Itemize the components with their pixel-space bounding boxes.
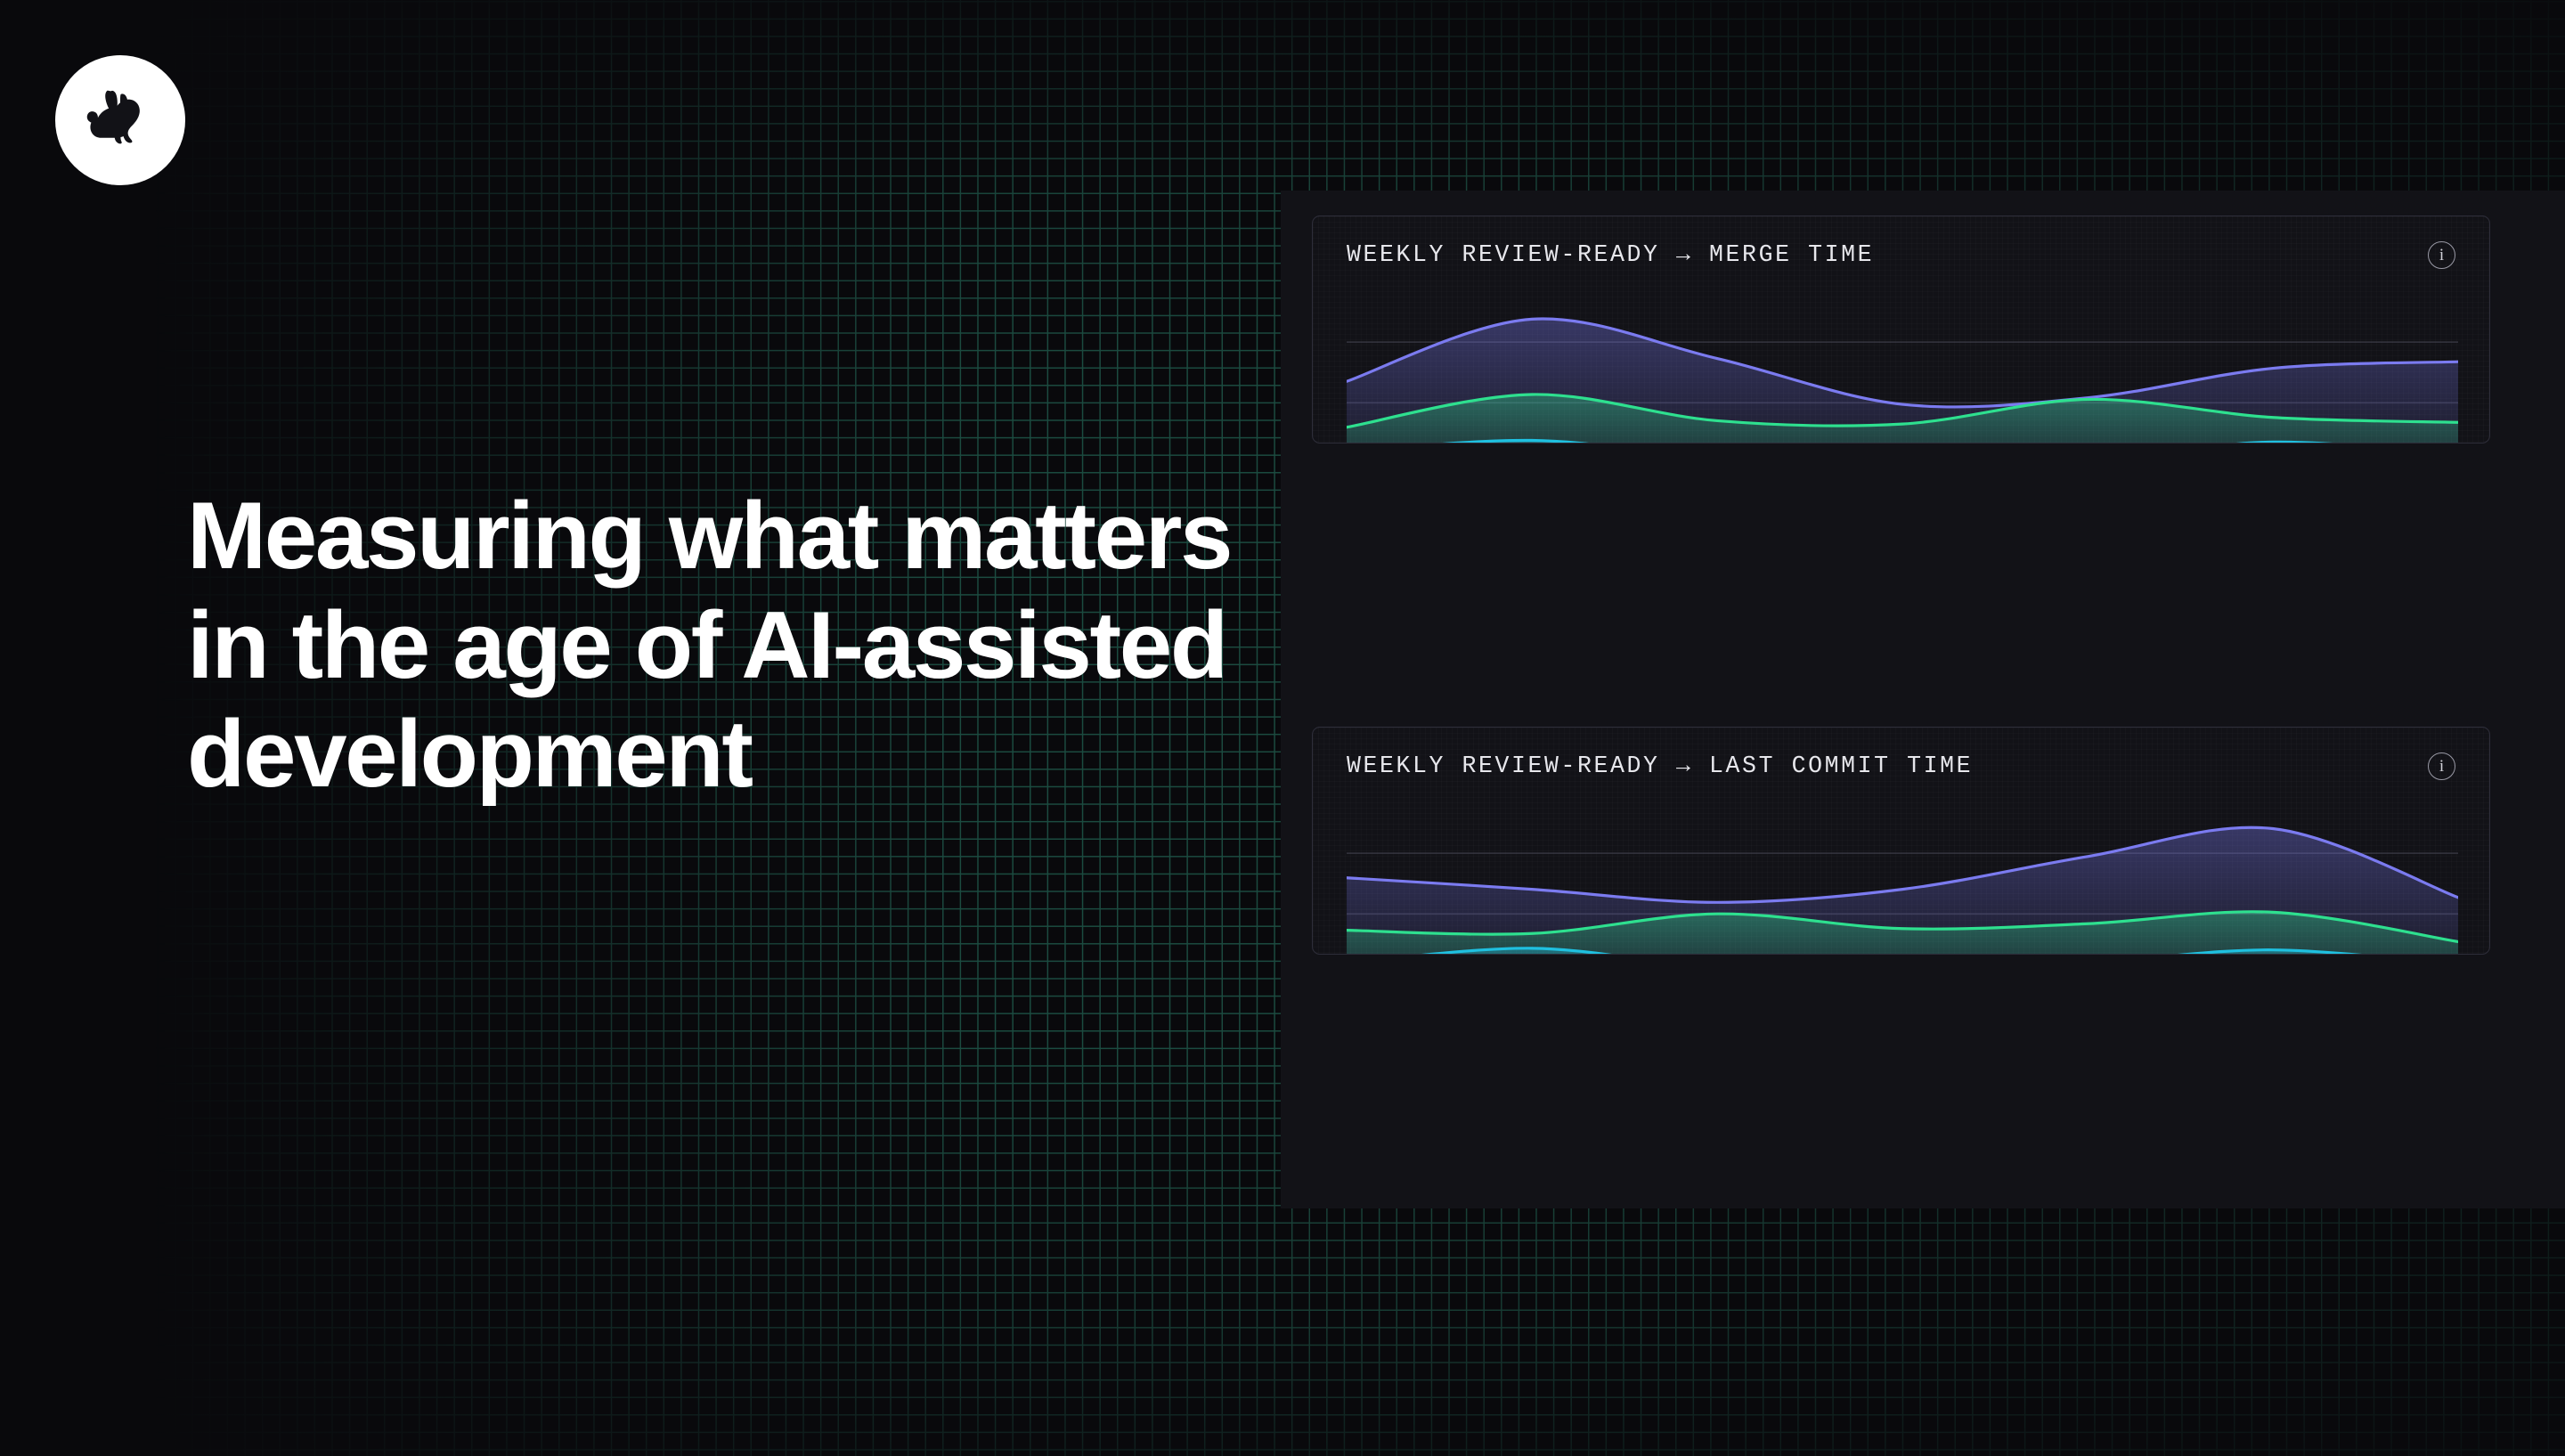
- page-title: Measuring what matters in the age of AI-…: [187, 481, 1238, 809]
- chart-card-header: WEEKLY REVIEW-READY → LAST COMMIT TIME i: [1347, 751, 2455, 781]
- chart-plot-merge: MonTueWeThuFriSatSun: [1347, 305, 2458, 443]
- chart-title-commit: WEEKLY REVIEW-READY → LAST COMMIT TIME: [1347, 752, 1973, 779]
- page-root: Measuring what matters in the age of AI-…: [0, 0, 2565, 1456]
- area-chart-svg-commit: [1347, 817, 2458, 955]
- chart-card-merge[interactable]: WEEKLY REVIEW-READY → MERGE TIME i MonTu…: [1312, 216, 2490, 443]
- brand-logo: [55, 55, 185, 185]
- area-chart-svg-merge: [1347, 305, 2458, 443]
- chart-card-header: WEEKLY REVIEW-READY → MERGE TIME i: [1347, 240, 2455, 270]
- chart-card-commit[interactable]: WEEKLY REVIEW-READY → LAST COMMIT TIME i…: [1312, 727, 2490, 955]
- rabbit-logo-icon: [79, 79, 161, 161]
- info-circle-icon[interactable]: i: [2428, 241, 2455, 269]
- chart-plot-commit: MonTueWeThuFriSatSun: [1347, 817, 2458, 955]
- chart-title-merge: WEEKLY REVIEW-READY → MERGE TIME: [1347, 241, 1874, 268]
- info-circle-icon[interactable]: i: [2428, 752, 2455, 780]
